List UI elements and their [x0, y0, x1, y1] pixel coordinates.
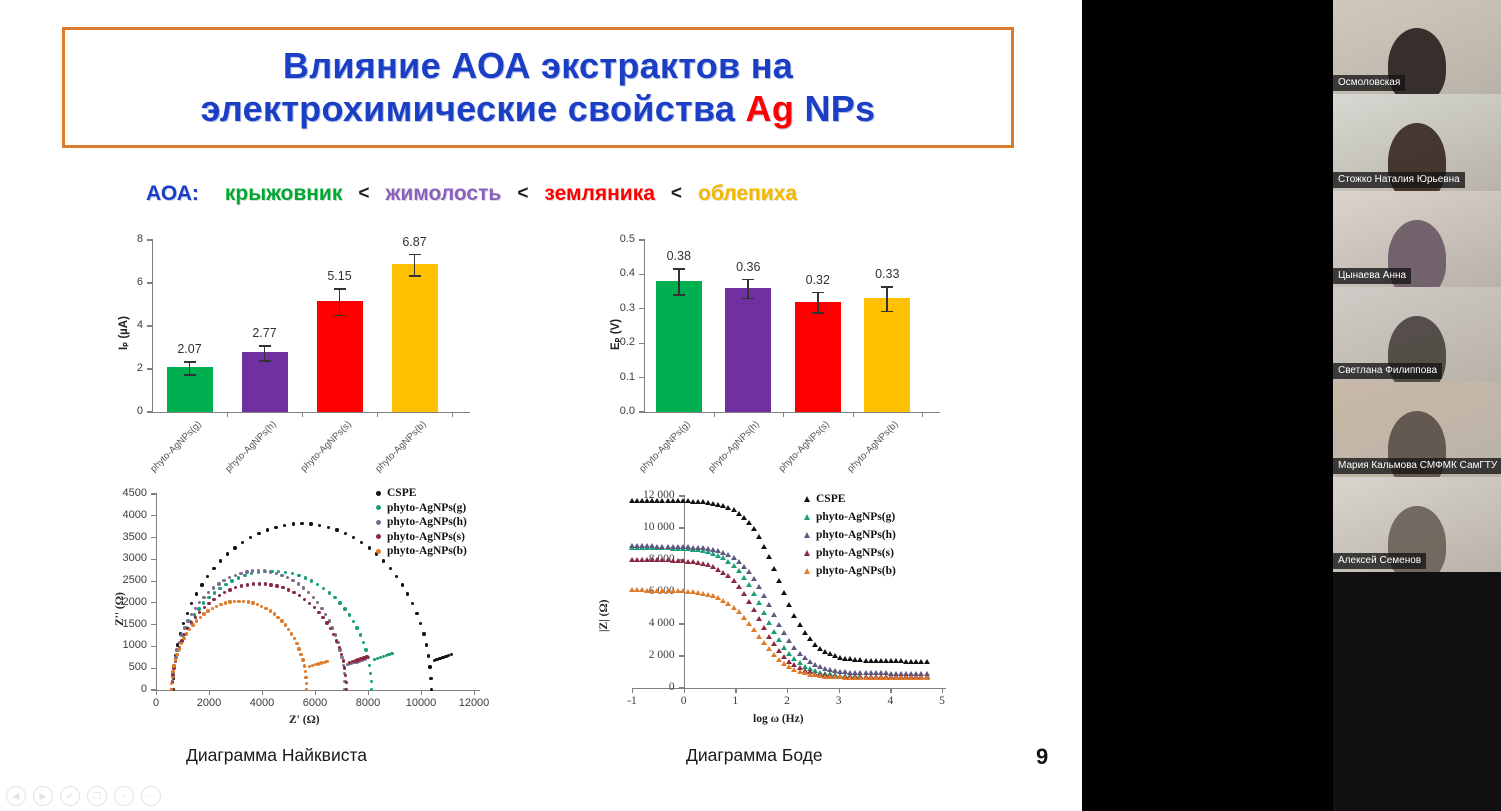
- prev-slide-button[interactable]: ◀: [6, 786, 26, 806]
- data-point: [390, 652, 393, 655]
- x-tick: [452, 412, 453, 417]
- x-tick: [714, 412, 715, 417]
- data-point: [321, 616, 324, 619]
- y-tick: [151, 559, 157, 560]
- x-tick: [787, 688, 788, 693]
- error-bar-cap: [673, 268, 685, 270]
- error-bar-cap: [742, 279, 754, 281]
- chart-nyquist: 0500100015002000250030003500400045000200…: [108, 484, 498, 734]
- legend-marker: [376, 505, 381, 510]
- y-tick: [679, 527, 685, 528]
- data-point: [731, 578, 737, 583]
- data-point: [756, 584, 762, 589]
- y-tick: [639, 274, 645, 275]
- data-point: [263, 569, 266, 572]
- next-slide-button[interactable]: ▶: [33, 786, 53, 806]
- data-point: [756, 600, 762, 605]
- bar-category-label: phyto-AgNPs(s): [286, 419, 353, 486]
- data-point: [256, 603, 259, 606]
- data-point: [297, 582, 300, 585]
- y-tick: [639, 308, 645, 309]
- legend-marker: [376, 549, 381, 554]
- legend-label: CSPE: [387, 487, 416, 499]
- legend-label: phyto-AgNPs(h): [387, 516, 467, 528]
- data-point: [269, 570, 272, 573]
- data-point: [182, 637, 185, 640]
- data-point: [766, 602, 772, 607]
- aoa-separator-2: <: [671, 183, 682, 205]
- bar-category-label: phyto-AgNPs(b): [361, 419, 428, 486]
- legend-marker: [376, 534, 381, 539]
- y-tick-label: 10 000: [592, 521, 675, 533]
- data-point: [269, 609, 272, 612]
- x-tick: [315, 690, 316, 695]
- legend-marker: [376, 491, 381, 496]
- x-tick: [853, 412, 854, 417]
- data-point: [291, 572, 294, 575]
- slides-grid-icon: ❐: [93, 792, 101, 801]
- y-tick: [639, 343, 645, 344]
- y-tick: [639, 377, 645, 378]
- data-point: [273, 612, 276, 615]
- x-tick: [942, 688, 943, 693]
- caption-bode: Диаграмма Боде: [686, 745, 823, 766]
- data-point: [340, 653, 343, 656]
- data-point: [292, 522, 295, 525]
- x-tick-label: 5: [922, 695, 962, 707]
- legend-label: phyto-AgNPs(g): [816, 511, 895, 523]
- data-point: [328, 591, 331, 594]
- data-point: [223, 591, 226, 594]
- data-point: [237, 600, 240, 603]
- legend-item: phyto-AgNPs(b): [804, 562, 896, 580]
- data-point: [786, 602, 792, 607]
- error-bar: [264, 345, 266, 360]
- participant-name-label: Алексей Семенов: [1333, 553, 1426, 569]
- data-point: [172, 664, 175, 667]
- y-axis-label: Eₚ (V): [608, 319, 622, 350]
- legend-marker: [804, 514, 810, 520]
- data-point: [415, 612, 418, 615]
- data-point: [275, 584, 278, 587]
- error-bar-cap: [812, 292, 824, 294]
- page-number: 9: [1036, 744, 1048, 770]
- data-point: [316, 583, 319, 586]
- y-tick: [151, 602, 157, 603]
- aoa-separator-0: <: [358, 183, 369, 205]
- chart-peak-potential: 0.00.10.20.30.40.50.38phyto-AgNPs(g)0.36…: [598, 232, 958, 482]
- x-tick: [421, 690, 422, 695]
- data-point: [230, 579, 233, 582]
- y-tick: [151, 581, 157, 582]
- error-bar-cap: [881, 311, 893, 313]
- data-point: [287, 628, 290, 631]
- data-point: [199, 616, 202, 619]
- data-point: [736, 568, 742, 573]
- data-point: [761, 625, 767, 630]
- data-point: [186, 612, 189, 615]
- y-tick-label: 0.5: [598, 233, 635, 245]
- data-point: [781, 590, 787, 595]
- data-point: [427, 654, 430, 657]
- aoa-ranking-row: АОА: крыжовник < жимолость < земляника <…: [146, 178, 976, 210]
- data-point: [174, 658, 177, 661]
- data-point: [191, 623, 194, 626]
- video-participant-rail[interactable]: ОсмоловскаяСтожко Наталия ЮрьевнаЦынаева…: [1333, 0, 1501, 811]
- legend-item: phyto-AgNPs(h): [376, 515, 467, 530]
- data-point: [240, 584, 243, 587]
- data-point: [297, 647, 300, 650]
- data-point: [217, 582, 220, 585]
- data-point: [766, 554, 772, 559]
- zoom-button[interactable]: ⌕: [114, 786, 134, 806]
- data-point: [303, 598, 306, 601]
- y-tick-label: 2: [108, 362, 143, 374]
- x-tick: [922, 412, 923, 417]
- data-point: [746, 621, 752, 626]
- data-point: [411, 602, 414, 605]
- data-point: [300, 522, 303, 525]
- more-options-button[interactable]: ···: [141, 786, 161, 806]
- data-point: [425, 643, 428, 646]
- participant-name-label: Стожко Наталия Юрьевна: [1333, 172, 1465, 188]
- title-text-nps: NPs: [794, 88, 875, 129]
- legend-item: phyto-AgNPs(s): [376, 530, 467, 545]
- x-tick-label: 0: [664, 695, 704, 707]
- data-point: [237, 576, 240, 579]
- x-tick: [890, 688, 891, 693]
- more-options-icon: ···: [147, 792, 156, 801]
- data-point: [761, 640, 767, 645]
- data-point: [924, 675, 930, 680]
- data-point: [302, 586, 305, 589]
- error-bar-cap: [409, 254, 421, 256]
- x-tick-label: 6000: [285, 697, 345, 709]
- data-point: [344, 674, 347, 677]
- x-tick-label: 10000: [391, 697, 451, 709]
- data-point: [307, 591, 310, 594]
- data-point: [316, 601, 319, 604]
- error-bar-cap: [673, 294, 685, 296]
- bar-value-label: 6.87: [389, 235, 441, 249]
- participant-name-label: Осмоловская: [1333, 75, 1405, 91]
- data-point: [365, 655, 368, 658]
- x-tick-label: 4: [870, 695, 910, 707]
- data-point: [252, 582, 255, 585]
- data-point: [170, 682, 173, 685]
- data-point: [422, 632, 425, 635]
- data-point: [348, 613, 351, 616]
- data-point: [751, 526, 757, 531]
- aoa-item-1: жимолость: [385, 182, 501, 206]
- aoa-item-0: крыжовник: [225, 182, 342, 206]
- bar-category-label: phyto-AgNPs(g): [625, 419, 692, 486]
- data-point: [308, 602, 311, 605]
- y-tick-label: 0.4: [598, 267, 635, 279]
- data-point: [797, 622, 803, 627]
- data-point: [389, 567, 392, 570]
- screen-root: Влияние АОА экстрактов на электрохимичес…: [0, 0, 1501, 811]
- data-point: [283, 524, 286, 527]
- legend-item: phyto-AgNPs(g): [804, 508, 896, 526]
- data-point: [771, 612, 777, 617]
- x-tick: [368, 690, 369, 695]
- title-text-part-a: электрохимические свойства: [201, 88, 746, 129]
- x-tick-label: 2: [767, 695, 807, 707]
- data-point: [781, 630, 787, 635]
- data-point: [419, 622, 422, 625]
- bar-value-label: 2.77: [239, 326, 291, 340]
- data-point: [362, 641, 365, 644]
- data-point: [741, 591, 747, 596]
- data-point: [264, 607, 267, 610]
- legend-item: CSPE: [804, 490, 896, 508]
- bar: [725, 288, 771, 412]
- title-text-ag: Ag: [746, 88, 795, 129]
- y-axis-line: [156, 494, 157, 690]
- data-point: [355, 626, 358, 629]
- y-tick: [151, 668, 157, 669]
- data-point: [406, 592, 409, 595]
- data-point: [327, 526, 330, 529]
- data-point: [257, 532, 260, 535]
- data-point: [290, 632, 293, 635]
- data-point: [395, 575, 398, 578]
- data-point: [218, 594, 221, 597]
- x-tick-label: 4000: [232, 697, 292, 709]
- data-point: [370, 680, 373, 683]
- slides-grid-button[interactable]: ❐: [87, 786, 107, 806]
- data-point: [766, 646, 772, 651]
- data-point: [802, 630, 808, 635]
- aoa-separator-1: <: [517, 183, 528, 205]
- data-point: [245, 570, 248, 573]
- slide-title-line-1: Влияние АОА экстрактов на: [283, 45, 793, 87]
- data-point: [219, 559, 222, 562]
- data-point: [751, 607, 757, 612]
- presentation-slide: Влияние АОА экстрактов на электрохимичес…: [0, 0, 1082, 811]
- data-point: [776, 578, 782, 583]
- data-point: [364, 648, 367, 651]
- data-point: [786, 638, 792, 643]
- data-point: [222, 579, 225, 582]
- data-point: [329, 627, 332, 630]
- y-axis-line: [644, 240, 645, 412]
- legend-marker: [804, 532, 810, 538]
- pen-tool-button[interactable]: ✐: [60, 786, 80, 806]
- data-point: [195, 592, 198, 595]
- data-point: [343, 666, 346, 669]
- chart-bode: 02 0004 0006 0008 00010 00012 000-101234…: [592, 484, 962, 734]
- data-point: [305, 682, 308, 685]
- data-point: [266, 528, 269, 531]
- x-tick-label: -1: [612, 695, 652, 707]
- legend-item: CSPE: [376, 486, 467, 501]
- error-bar: [678, 268, 680, 294]
- y-tick: [151, 624, 157, 625]
- legend-marker: [376, 520, 381, 525]
- y-tick: [679, 623, 685, 624]
- data-point: [198, 611, 201, 614]
- video-tile[interactable]: Цынаева Анна: [1333, 191, 1501, 287]
- data-point: [746, 520, 752, 525]
- data-point: [303, 664, 306, 667]
- data-point: [295, 642, 298, 645]
- data-point: [352, 536, 355, 539]
- data-point: [212, 586, 215, 589]
- x-tick: [227, 412, 228, 417]
- error-bar-cap: [184, 374, 196, 376]
- data-point: [185, 632, 188, 635]
- legend-item: phyto-AgNPs(s): [804, 544, 896, 562]
- x-tick: [632, 688, 633, 693]
- data-point: [335, 528, 338, 531]
- legend-item: phyto-AgNPs(g): [376, 501, 467, 516]
- y-tick: [151, 646, 157, 647]
- data-point: [234, 574, 237, 577]
- data-point: [177, 647, 180, 650]
- data-point: [202, 601, 205, 604]
- bar-value-label: 0.32: [792, 273, 844, 287]
- participant-name-label: Мария Кальмова СМФМК СамГТУ: [1333, 458, 1501, 474]
- data-point: [756, 634, 762, 639]
- data-point: [299, 653, 302, 656]
- data-point: [298, 594, 301, 597]
- error-bar-cap: [334, 288, 346, 290]
- video-tile[interactable]: Светлана Филиппова: [1333, 287, 1501, 382]
- data-point: [924, 659, 930, 664]
- video-tile[interactable]: Алексей Семенов: [1333, 477, 1501, 572]
- data-point: [182, 622, 185, 625]
- next-slide-icon: ▶: [40, 792, 47, 801]
- data-point: [791, 613, 797, 618]
- data-point: [198, 601, 201, 604]
- data-point: [746, 599, 752, 604]
- data-point: [338, 601, 341, 604]
- data-point: [188, 628, 191, 631]
- error-bar: [414, 254, 416, 276]
- legend-label: phyto-AgNPs(s): [816, 547, 894, 559]
- x-tick: [302, 412, 303, 417]
- data-point: [281, 586, 284, 589]
- x-tick-label: 1: [715, 695, 755, 707]
- x-tick-label: 3: [819, 695, 859, 707]
- y-axis-label: Iₚ (µA): [116, 316, 130, 350]
- error-bar: [886, 286, 888, 311]
- legend-label: phyto-AgNPs(s): [387, 531, 465, 543]
- slide-toolbar[interactable]: ◀▶✐❐⌕···: [6, 786, 161, 806]
- data-point: [241, 541, 244, 544]
- data-point: [342, 659, 345, 662]
- data-point: [207, 602, 210, 605]
- y-tick-label: 0: [592, 681, 675, 693]
- video-tile[interactable]: Мария Кальмова СМФМК СамГТУ: [1333, 382, 1501, 477]
- pen-tool-icon: ✐: [66, 792, 74, 801]
- data-point: [215, 605, 218, 608]
- aoa-label: АОА:: [146, 182, 199, 206]
- x-axis-line: [152, 412, 470, 413]
- data-point: [751, 576, 757, 581]
- data-point: [382, 559, 385, 562]
- error-bar-cap: [812, 312, 824, 314]
- y-tick: [151, 493, 157, 494]
- bar-category-label: phyto-AgNPs(h): [211, 419, 278, 486]
- data-point: [751, 627, 757, 632]
- data-point: [450, 653, 453, 656]
- data-point: [234, 586, 237, 589]
- data-point: [325, 621, 328, 624]
- x-tick: [783, 412, 784, 417]
- video-tile[interactable]: Стожко Наталия Юрьевна: [1333, 94, 1501, 191]
- data-point: [292, 591, 295, 594]
- y-tick-label: 3500: [108, 531, 147, 543]
- data-point: [736, 584, 742, 589]
- slide-title-box: Влияние АОА экстрактов на электрохимичес…: [62, 27, 1014, 148]
- bar-value-label: 0.38: [653, 249, 705, 263]
- legend-item: phyto-AgNPs(b): [376, 544, 467, 559]
- data-point: [276, 616, 279, 619]
- chart-legend: CSPEphyto-AgNPs(g)phyto-AgNPs(h)phyto-Ag…: [376, 486, 467, 559]
- data-point: [249, 536, 252, 539]
- x-tick: [156, 690, 157, 695]
- data-point: [190, 602, 193, 605]
- data-point: [741, 615, 747, 620]
- error-bar-cap: [334, 315, 346, 317]
- data-point: [791, 645, 797, 650]
- data-point: [280, 574, 283, 577]
- data-point: [325, 660, 328, 663]
- video-tile[interactable]: Осмоловская: [1333, 0, 1501, 94]
- y-tick: [679, 495, 685, 496]
- legend-label: phyto-AgNPs(g): [387, 502, 466, 514]
- error-bar: [817, 292, 819, 313]
- y-tick-label: 0.1: [598, 371, 635, 383]
- y-tick: [151, 515, 157, 516]
- chart-legend: CSPEphyto-AgNPs(g)phyto-AgNPs(h)phyto-Ag…: [804, 490, 896, 580]
- data-point: [200, 583, 203, 586]
- y-tick-label: 2 000: [592, 649, 675, 661]
- data-point: [766, 620, 772, 625]
- error-bar: [189, 361, 191, 374]
- data-point: [368, 546, 371, 549]
- data-point: [207, 591, 210, 594]
- data-point: [345, 681, 348, 684]
- bar-category-label: phyto-AgNPs(s): [764, 419, 831, 486]
- x-tick: [839, 688, 840, 693]
- y-tick: [147, 239, 153, 240]
- data-point: [318, 524, 321, 527]
- bar: [656, 281, 702, 412]
- error-bar: [339, 288, 341, 315]
- y-tick-label: 4500: [108, 487, 147, 499]
- x-tick: [684, 688, 685, 693]
- x-tick-label: 8000: [338, 697, 398, 709]
- data-point: [741, 564, 747, 569]
- data-point: [212, 567, 215, 570]
- data-point: [304, 576, 307, 579]
- y-tick: [147, 368, 153, 369]
- x-tick-label: 2000: [179, 697, 239, 709]
- data-point: [741, 575, 747, 580]
- legend-label: phyto-AgNPs(h): [816, 529, 896, 541]
- data-point: [258, 582, 261, 585]
- data-point: [776, 622, 782, 627]
- data-point: [369, 672, 372, 675]
- x-tick: [377, 412, 378, 417]
- aoa-item-2: земляника: [544, 182, 654, 206]
- data-point: [195, 619, 198, 622]
- data-point: [213, 591, 216, 594]
